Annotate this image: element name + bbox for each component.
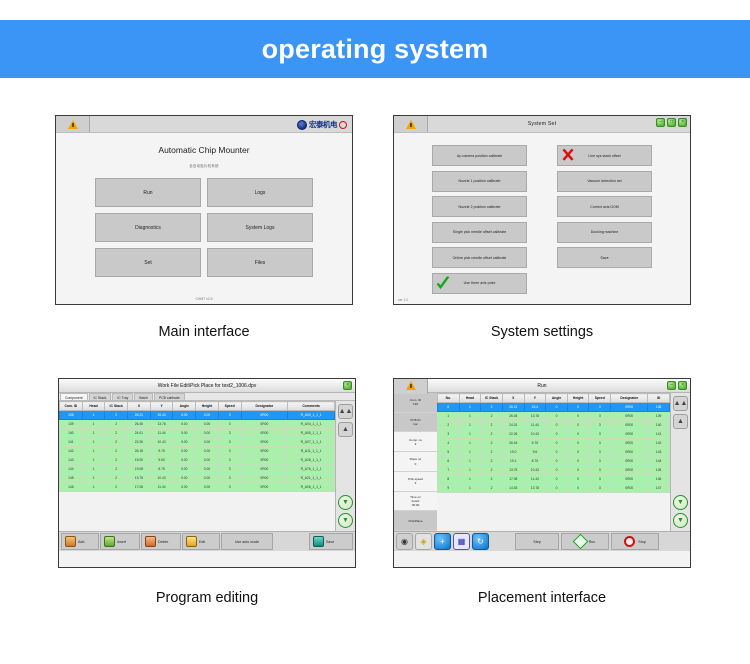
table-cell: 2	[481, 448, 503, 457]
table-cell: 1	[459, 439, 481, 448]
red-circle-icon	[339, 121, 347, 129]
table-cell: 1	[459, 475, 481, 484]
col-height: Height	[567, 394, 589, 403]
table-cell: 8.75	[524, 457, 546, 466]
add-component-icon	[65, 536, 76, 547]
table-cell: 139	[648, 412, 670, 421]
table-cell: 2	[105, 411, 128, 420]
table-cell: 3	[218, 411, 241, 420]
table-cell: 0R00	[241, 465, 288, 474]
brand-name: 宏泰机电	[309, 119, 337, 130]
table-cell: 140	[60, 429, 83, 438]
table-cell: 1	[82, 447, 105, 456]
table-body: 01226.2115.40030R0013611226.4513.780030R…	[438, 403, 670, 493]
table-row[interactable]: 51219.09.60030R00143	[438, 448, 670, 457]
table-row[interactable]: 01226.2115.40030R00136	[438, 403, 670, 412]
table-cell: 26.21	[502, 403, 524, 412]
col-com-id: Com. ID	[60, 402, 83, 411]
table-cell: 17.08	[502, 475, 524, 484]
table-cell: R_A07_1_1_1	[288, 438, 335, 447]
table-cell: 3	[589, 412, 611, 421]
table-cell: 11.44	[524, 475, 546, 484]
table-cell: 11.44	[150, 483, 173, 492]
table-cell: 1	[459, 430, 481, 439]
table-cell: 3	[589, 403, 611, 412]
table-cell: 0.00	[173, 465, 196, 474]
table-row[interactable]: 1411222.2610.430.000.0030R00R_A07_1_1_1	[60, 438, 335, 447]
table-cell: 0R00	[611, 475, 648, 484]
panel-caption-main-interface: Main interface	[55, 324, 353, 340]
table-cell: 9.75	[524, 439, 546, 448]
table-cell: 11.44	[524, 421, 546, 430]
table-cell: 3	[218, 456, 241, 465]
window-title: System Set	[394, 121, 690, 127]
table-cell: 0.00	[196, 465, 219, 474]
page-title: Automatic Chip Mounter	[56, 133, 352, 155]
table-cell: 0	[546, 466, 568, 475]
camera-icon[interactable]: ◉	[396, 533, 413, 550]
table-cell: 2	[105, 474, 128, 483]
sidebar-item-pick-place[interactable]: Pick/Place	[394, 511, 437, 531]
window-title: Run	[394, 383, 690, 389]
main-body: Automatic Chip Mounter 全自动贴片机系统 Run Logs…	[56, 133, 352, 305]
vertical-scroll-controls: ▲▲ ▲ ▼ ▼	[670, 393, 690, 531]
table-cell: 0	[546, 439, 568, 448]
close-icon[interactable]: ×	[678, 118, 687, 127]
table-cell: 13.78	[524, 412, 546, 421]
page-up-icon[interactable]: ▲▲	[338, 404, 353, 419]
reset-arrow-icon[interactable]: ↻	[472, 533, 489, 550]
table-row[interactable]: 81217.0811.440030R00146	[438, 475, 670, 484]
table-cell: 0	[546, 457, 568, 466]
table-row[interactable]: 61219.18.750030R00144	[438, 457, 670, 466]
table-cell: 1	[459, 412, 481, 421]
page-up-icon[interactable]: ▲▲	[673, 396, 688, 411]
table-cell: 0.00	[196, 483, 219, 492]
table-cell: 24.01	[502, 421, 524, 430]
table-cell: 3	[218, 420, 241, 429]
table-cell: 19.00	[128, 456, 151, 465]
table-cell: 1	[459, 457, 481, 466]
table-cell: 0R00	[611, 439, 648, 448]
table-cell: 1	[82, 483, 105, 492]
table-cell: 2	[105, 483, 128, 492]
col-no: No.	[438, 394, 460, 403]
table-row[interactable]: 1431219.009.600.000.0030R00R_A28_1_1_1	[60, 456, 335, 465]
version-footer: CHMT v2.5	[56, 297, 352, 301]
table-cell: 0R00	[611, 412, 648, 421]
page-down-icon[interactable]: ▼	[338, 513, 353, 528]
table-cell: 0R00	[611, 430, 648, 439]
table-cell: 14.53	[502, 484, 524, 493]
table-cell: 0R00	[241, 483, 288, 492]
menu-button-set[interactable]: Set	[95, 248, 201, 277]
col-angle: Angle	[173, 402, 196, 411]
table-cell: 2	[105, 420, 128, 429]
table-cell: 3	[218, 474, 241, 483]
screenshot-system-settings: System Set – □ × Up camera position cali…	[393, 115, 691, 305]
toolbar-button-step[interactable]: Step	[515, 533, 559, 550]
toolbar-button-run[interactable]: Run	[561, 533, 609, 550]
toolbar-button-label: Save	[326, 540, 334, 544]
screenshot-placement-interface: Run – × Com. ID136 PCB ID1pc Comp. no9 P…	[393, 378, 691, 568]
toolbar-button-add[interactable]: Add	[61, 533, 99, 550]
page-banner: operating system	[0, 20, 750, 78]
col-comments: Comments	[288, 402, 335, 411]
table-row[interactable]: 41226.189.750030R00142	[438, 439, 670, 448]
table-row[interactable]: 11226.4513.780030R00139	[438, 412, 670, 421]
col-speed: Speed	[589, 394, 611, 403]
table-cell: 13.75	[128, 474, 151, 483]
table-cell: 0	[546, 403, 568, 412]
panel-caption-placement-interface: Placement interface	[393, 590, 691, 606]
panel-system-settings: System Set – □ × Up camera position cali…	[393, 115, 691, 340]
table-cell: 0	[567, 412, 589, 421]
settings-button-label: Use three axis point	[464, 281, 496, 285]
menu-button-run[interactable]: Run	[95, 178, 201, 207]
tab-batch[interactable]: Batch	[134, 393, 153, 400]
run-sidebar: Com. ID136 PCB ID1pc Comp. no9 Place no0…	[394, 393, 437, 531]
stop-icon	[624, 536, 635, 547]
table-row[interactable]: 1361226.2115.430.000.0030R00R_A00_1_1_1	[60, 411, 335, 420]
table-cell: 0	[438, 403, 460, 412]
settings-button-nozzle2-calibrate[interactable]: Nozzle 2 position calibrate	[432, 196, 527, 217]
table-cell: 11.44	[150, 429, 173, 438]
line-down-icon[interactable]: ▼	[338, 495, 353, 510]
settings-button-docking-machine[interactable]: Docking machine	[557, 222, 652, 243]
table-cell: 147	[648, 484, 670, 493]
screenshot-main-interface: 宏泰机电 Automatic Chip Mounter 全自动贴片机系统 Run…	[55, 115, 353, 305]
run-body: Com. ID136 PCB ID1pc Comp. no9 Place no0…	[394, 393, 690, 531]
col-height: Height	[196, 402, 219, 411]
table-cell: 2	[481, 430, 503, 439]
table-cell: 26.45	[502, 412, 524, 421]
page-down-icon[interactable]: ▼	[673, 513, 688, 528]
col-head: Head	[82, 402, 105, 411]
table-cell: 0R00	[241, 456, 288, 465]
table-cell: 26.45	[128, 420, 151, 429]
table-cell: 3	[589, 439, 611, 448]
table-row[interactable]: 71213.7510.430030R00145	[438, 466, 670, 475]
close-icon[interactable]: ×	[343, 381, 352, 390]
table-cell: 3	[218, 447, 241, 456]
table-cell: 3	[589, 430, 611, 439]
table-cell: R_A76_1_1_1	[288, 465, 335, 474]
panel-main-interface: 宏泰机电 Automatic Chip Mounter 全自动贴片机系统 Run…	[55, 115, 353, 340]
window-controls: – □ ×	[656, 118, 687, 127]
table-cell: 2	[105, 447, 128, 456]
menu-button-logs[interactable]: Logs	[207, 178, 313, 207]
table-cell: 2	[481, 412, 503, 421]
col-designator: Designator	[611, 394, 648, 403]
table-cell: 146	[648, 475, 670, 484]
line-down-icon[interactable]: ▼	[673, 495, 688, 510]
table-cell: 1	[82, 411, 105, 420]
table-cell: 0.00	[196, 429, 219, 438]
table-cell: 2	[438, 421, 460, 430]
toolbar-button-stop[interactable]: Stop	[611, 533, 659, 550]
table-cell: 3	[589, 421, 611, 430]
delete-component-icon	[145, 536, 156, 547]
col-y: Y	[524, 394, 546, 403]
table-cell: 8.75	[150, 465, 173, 474]
window-title: Work File Edit\Pick Place for test2_1006…	[59, 383, 355, 389]
table-cell: R_A05_1_1_1	[288, 429, 335, 438]
table-cell: 0R00	[611, 457, 648, 466]
page-subtitle: 全自动贴片机系统	[56, 155, 352, 168]
menu-button-files[interactable]: Files	[207, 248, 313, 277]
toolbar-button-label: Delete	[158, 540, 168, 544]
table-cell: 2	[105, 438, 128, 447]
col-ic-stack: IC Stack	[481, 394, 503, 403]
table-cell: 2	[105, 456, 128, 465]
toolbar-button-insert[interactable]: Insert	[100, 533, 140, 550]
table-cell: 0	[567, 475, 589, 484]
table-cell: 1	[459, 403, 481, 412]
table-cell: 2	[481, 439, 503, 448]
sidebar-item-pick-speed[interactable]: Pick speed3	[394, 472, 437, 492]
sidebar-item-time-on-board[interactable]: Time onboard00:00	[394, 492, 437, 512]
table-row[interactable]: 1451213.7510.430.000.0030R00R_A21_1_1_1	[60, 474, 335, 483]
table-cell: 142	[60, 447, 83, 456]
table-cell: 3	[589, 475, 611, 484]
table-cell: 10.43	[524, 430, 546, 439]
sidebar-item-place-no[interactable]: Place no0	[394, 452, 437, 472]
table-cell: 0R00	[611, 448, 648, 457]
sidebar-item-com-id[interactable]: Com. ID136	[394, 393, 437, 413]
table-cell: 1	[82, 420, 105, 429]
table-cell: 7	[438, 466, 460, 475]
nozzle-icon[interactable]: ◈	[415, 533, 432, 550]
table-cell: 0R00	[241, 429, 288, 438]
table-cell: 2	[105, 465, 128, 474]
table-cell: 19.1	[502, 457, 524, 466]
run-diamond-icon	[572, 534, 588, 550]
table-row[interactable]: 1421226.189.750.000.0030R00R_A11_1_1_1	[60, 447, 335, 456]
table-cell: 0R00	[241, 411, 288, 420]
panel-program-editing: Work File Edit\Pick Place for test2_1006…	[58, 378, 356, 606]
table-area: Com. ID Head IC Stack X Y Angle Height S…	[59, 401, 355, 531]
table-cell: 1	[459, 448, 481, 457]
table-cell: 13.75	[502, 466, 524, 475]
table-cell: 3	[589, 466, 611, 475]
add-blue-icon[interactable]: +	[434, 533, 451, 550]
col-x: X	[128, 402, 151, 411]
table-cell: 5	[438, 448, 460, 457]
bottom-toolbar: ◉ ◈ + ▦ ↻ Step Run Stop	[394, 531, 690, 551]
line-up-icon[interactable]: ▲	[338, 422, 353, 437]
table-cell: 2	[481, 457, 503, 466]
settings-button-up-camera-calibrate[interactable]: Up camera position calibrate	[432, 145, 527, 166]
settings-button-line-sys-stack-offset[interactable]: Line sys stack offset	[557, 145, 652, 166]
panel-caption-system-settings: System settings	[393, 324, 691, 340]
bottom-toolbar: Add Insert Delete Edit Use auto mode	[59, 531, 355, 551]
col-y: Y	[150, 402, 173, 411]
settings-button-vacuum-detection[interactable]: Vacuum detection set	[557, 171, 652, 192]
grid-align-icon[interactable]: ▦	[453, 533, 470, 550]
menu-button-diagnostics[interactable]: Diagnostics	[95, 213, 201, 242]
table-cell: 142	[648, 439, 670, 448]
table-cell: 0.00	[173, 483, 196, 492]
table-cell: R_A28_1_1_1	[288, 456, 335, 465]
restore-icon[interactable]: □	[667, 118, 676, 127]
table-cell: 1	[82, 429, 105, 438]
table-cell: 0	[546, 448, 568, 457]
toolbar-button-edit[interactable]: Edit	[182, 533, 220, 550]
component-table: Com. ID Head IC Stack X Y Angle Height S…	[59, 401, 335, 492]
table-row[interactable]: 1401224.0111.440.000.0030R00R_A05_1_1_1	[60, 429, 335, 438]
table-cell: 1	[82, 465, 105, 474]
table-cell: 8	[438, 475, 460, 484]
menu-button-system-logs[interactable]: System Logs	[207, 213, 313, 242]
table-header-row: No. Head IC Stack X Y Angle Height Speed…	[438, 394, 670, 403]
table-cell: 3	[218, 438, 241, 447]
table-row[interactable]: 21224.0111.440030R00140	[438, 421, 670, 430]
table-cell: 13.78	[150, 420, 173, 429]
table-cell: R_A11_1_1_1	[288, 447, 335, 456]
table-cell: 143	[60, 456, 83, 465]
table-cell: 0	[567, 403, 589, 412]
table-cell: 1	[459, 484, 481, 493]
vertical-scroll-controls: ▲▲ ▲ ▼ ▼	[335, 401, 355, 531]
table-cell: 0R00	[611, 466, 648, 475]
table-cell: 0	[567, 439, 589, 448]
table-cell: 146	[60, 483, 83, 492]
table-row[interactable]: 91214.5313.780030R00147	[438, 484, 670, 493]
tab-ic-tray[interactable]: IC Tray	[112, 393, 133, 400]
table-cell: 4	[438, 439, 460, 448]
table-scroll-region[interactable]: Com. ID Head IC Stack X Y Angle Height S…	[59, 401, 335, 531]
tab-ic-stack[interactable]: IC Stack	[89, 393, 112, 400]
table-cell: 0R00	[241, 420, 288, 429]
table-cell: 139	[60, 420, 83, 429]
window-controls: ×	[343, 381, 352, 390]
table-cell: 143	[648, 448, 670, 457]
table-cell: 19.08	[128, 465, 151, 474]
table-cell: 0.00	[196, 411, 219, 420]
table-cell: 141	[648, 430, 670, 439]
table-cell: 6	[438, 457, 460, 466]
screenshot-program-editing: Work File Edit\Pick Place for test2_1006…	[58, 378, 356, 568]
table-cell: 0R00	[241, 447, 288, 456]
titlebar: Work File Edit\Pick Place for test2_1006…	[59, 379, 355, 393]
settings-button-use-three-axis[interactable]: Use three axis point	[432, 273, 527, 294]
close-icon[interactable]: ×	[678, 381, 687, 390]
table-cell: 136	[648, 403, 670, 412]
table-cell: 136	[60, 411, 83, 420]
table-cell: 141	[60, 438, 83, 447]
version-footer: ver 1.0	[398, 298, 408, 302]
toolbar-button-label: Step	[533, 540, 540, 544]
table-cell: 15.43	[150, 411, 173, 420]
table-cell: 10.43	[150, 474, 173, 483]
table-cell: 2	[481, 403, 503, 412]
toolbar-button-delete[interactable]: Delete	[141, 533, 181, 550]
settings-column-right: Line sys stack offset Vacuum detection s…	[557, 145, 652, 294]
settings-button-label: Line sys stack offset	[588, 154, 620, 158]
table-cell: 3	[218, 465, 241, 474]
settings-button-nozzle1-calibrate[interactable]: Nozzle 1 position calibrate	[432, 171, 527, 192]
settings-button-save[interactable]: Save	[557, 247, 652, 268]
minimize-icon[interactable]: –	[667, 381, 676, 390]
toolbar-button-use-auto-mode[interactable]: Use auto mode	[221, 533, 273, 550]
sidebar-item-comp-no[interactable]: Comp. no9	[394, 432, 437, 452]
tab-component[interactable]: Component	[60, 393, 88, 400]
settings-button-correct-axis-dom[interactable]: Correct axis DOM	[557, 196, 652, 217]
table-cell: 0.00	[196, 420, 219, 429]
table-cell: 0R00	[611, 403, 648, 412]
table-cell: 2	[105, 429, 128, 438]
company-seal-icon	[297, 120, 307, 130]
table-cell: 145	[648, 466, 670, 475]
table-cell: 0	[567, 484, 589, 493]
table-cell: 2	[481, 484, 503, 493]
table-scroll-region[interactable]: No. Head IC Stack X Y Angle Height Speed…	[437, 393, 670, 531]
table-cell: 0	[546, 475, 568, 484]
tab-pcb-calibrate[interactable]: PCB calibrate	[154, 393, 185, 400]
table-cell: 1	[82, 474, 105, 483]
warning-triangle-icon[interactable]	[56, 116, 90, 132]
table-cell: 1	[82, 456, 105, 465]
table-cell: 1	[459, 421, 481, 430]
table-cell: 0	[546, 484, 568, 493]
toolbar-button-save[interactable]: Save	[309, 533, 353, 550]
panel-caption-program-editing: Program editing	[58, 590, 356, 606]
table-row[interactable]: 1441219.088.750.000.0030R00R_A76_1_1_1	[60, 465, 335, 474]
table-cell: 0	[567, 448, 589, 457]
table-cell: 0R00	[241, 438, 288, 447]
table-cell: 22.26	[502, 430, 524, 439]
table-cell: 26.21	[128, 411, 151, 420]
table-cell: 2	[481, 421, 503, 430]
minimize-icon[interactable]: –	[656, 118, 665, 127]
table-cell: 10.43	[150, 438, 173, 447]
table-cell: 0.00	[173, 411, 196, 420]
table-cell: 0	[546, 412, 568, 421]
window-controls: – ×	[667, 381, 687, 390]
line-up-icon[interactable]: ▲	[673, 414, 688, 429]
table-cell: 0R00	[611, 484, 648, 493]
table-cell: 0R00	[241, 474, 288, 483]
table-cell: 13.78	[524, 484, 546, 493]
col-x: X	[502, 394, 524, 403]
table-cell: 3	[589, 448, 611, 457]
col-designator: Designator	[241, 402, 288, 411]
table-header-row: Com. ID Head IC Stack X Y Angle Height S…	[60, 402, 335, 411]
table-row[interactable]: 1391226.4513.780.000.0030R00R_A04_1_1_1	[60, 420, 335, 429]
sidebar-item-pcb-id[interactable]: PCB ID1pc	[394, 413, 437, 433]
table-cell: 24.01	[128, 429, 151, 438]
table-row[interactable]: 31222.2610.430030R00141	[438, 430, 670, 439]
table-cell: 26.18	[128, 447, 151, 456]
table-cell: 1	[438, 412, 460, 421]
table-cell: 15.4	[524, 403, 546, 412]
table-cell: 0	[567, 421, 589, 430]
check-mark-icon	[435, 275, 451, 292]
table-cell: 17.08	[128, 483, 151, 492]
table-cell: R_A00_1_1_1	[288, 411, 335, 420]
brand-logo: 宏泰机电	[297, 119, 347, 130]
settings-button-single-pick-offset[interactable]: Single pick needle offset calibrate	[432, 222, 527, 243]
toolbar-button-label: Stop	[638, 540, 645, 544]
cross-mark-icon	[561, 148, 575, 162]
table-cell: 1	[82, 438, 105, 447]
table-cell: 9	[438, 484, 460, 493]
table-cell: 26.18	[502, 439, 524, 448]
settings-button-online-pick-offset[interactable]: Online pick needle offset calibrate	[432, 247, 527, 268]
toolbar-button-label: Insert	[117, 540, 126, 544]
table-row[interactable]: 1461217.0811.440.000.0030R00R_A06_1_1_1	[60, 483, 335, 492]
